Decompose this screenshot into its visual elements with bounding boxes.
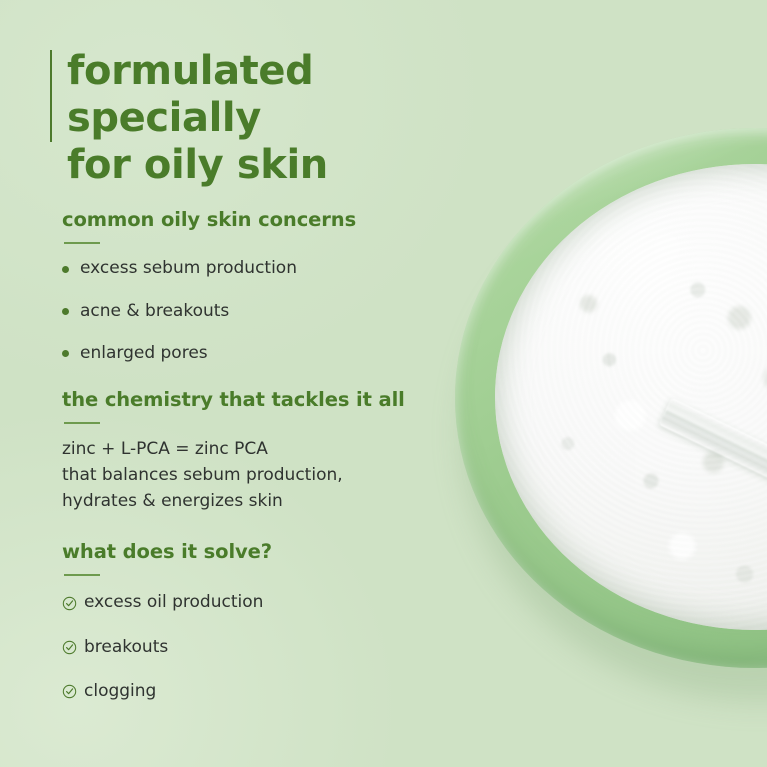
section-common-concerns: common oily skin concerns excess sebum p… — [62, 208, 356, 364]
glass-spatula-shadow — [664, 410, 767, 603]
dish-rim-inner-highlight — [465, 138, 767, 658]
check-circle-icon — [62, 596, 77, 611]
section-underline-rule — [64, 574, 100, 576]
bullet-dot-icon — [62, 266, 69, 273]
list-item: breakouts — [62, 637, 272, 658]
bullet-dot-icon — [62, 350, 69, 357]
section-chemistry: the chemistry that tackles it all zinc +… — [62, 388, 405, 514]
powder-texture-fine — [495, 164, 767, 630]
dish-rim-lower-sheen — [455, 128, 767, 668]
page-title-text: formulated specially for oily skin — [67, 48, 470, 188]
list-item-label: excess sebum production — [80, 258, 297, 279]
dish-rim-highlight — [455, 128, 767, 668]
concerns-list: excess sebum production acne & breakouts… — [62, 258, 356, 364]
list-item: excess oil production — [62, 592, 272, 613]
section-underline-rule — [64, 422, 100, 424]
chemistry-body-text: zinc + L-PCA = zinc PCA that balances se… — [62, 436, 405, 514]
section-heading: the chemistry that tackles it all — [62, 388, 405, 411]
page-title: formulated specially for oily skin — [50, 48, 470, 188]
check-circle-icon — [62, 684, 77, 699]
dish-drop-shadow — [461, 162, 767, 702]
list-item: acne & breakouts — [62, 301, 356, 322]
title-accent-bar — [50, 50, 52, 142]
powder-edge-shading — [495, 164, 767, 630]
powder-texture-clumps — [495, 164, 767, 630]
list-item: enlarged pores — [62, 343, 356, 364]
list-item-label: enlarged pores — [80, 343, 208, 364]
text-column: formulated specially for oily skin commo… — [0, 0, 470, 767]
solves-list: excess oil production breakouts clogging — [62, 592, 272, 702]
list-item-label: clogging — [84, 681, 156, 702]
check-circle-icon — [62, 640, 77, 655]
list-item: excess sebum production — [62, 258, 356, 279]
white-powder — [495, 164, 767, 630]
list-item-label: acne & breakouts — [80, 301, 229, 322]
list-item: clogging — [62, 681, 272, 702]
bullet-dot-icon — [62, 308, 69, 315]
infographic-poster: formulated specially for oily skin commo… — [0, 0, 767, 767]
petri-dish-image — [455, 128, 767, 688]
dish-glass-body — [455, 128, 767, 668]
section-what-it-solves: what does it solve? excess oil productio… — [62, 540, 272, 702]
list-item-label: breakouts — [84, 637, 168, 658]
section-heading: common oily skin concerns — [62, 208, 356, 231]
section-underline-rule — [64, 242, 100, 244]
powder-texture-grains — [495, 164, 767, 630]
glass-spatula-icon — [658, 398, 767, 613]
list-item-label: excess oil production — [84, 592, 263, 613]
section-heading: what does it solve? — [62, 540, 272, 563]
